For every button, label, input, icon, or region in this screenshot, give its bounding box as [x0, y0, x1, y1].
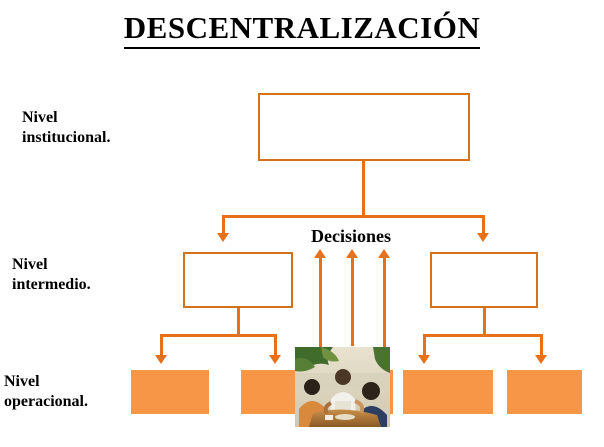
connector-top-right-drop — [482, 215, 485, 235]
arrow-down-icon-mid-right — [477, 233, 489, 242]
connector-top-bus — [222, 215, 485, 218]
connector-midright-drop-1 — [423, 334, 426, 357]
box-institutional-level[interactable] — [258, 93, 470, 161]
box-operational-1[interactable] — [131, 370, 209, 414]
page-title: DESCENTRALIZACIÓN — [0, 10, 604, 46]
box-intermediate-left[interactable] — [183, 252, 293, 308]
arrow-up-icon-decision-2 — [346, 249, 358, 258]
connector-top-left-drop — [222, 215, 225, 235]
arrow-up-icon-decision-1 — [314, 249, 326, 258]
connector-midleft-stem — [237, 308, 240, 335]
diagram-canvas: DESCENTRALIZACIÓN Nivel institucional. N… — [0, 0, 604, 447]
connector-midright-stem — [483, 308, 486, 335]
connector-midright-bus — [423, 334, 543, 337]
page-title-text: DESCENTRALIZACIÓN — [124, 10, 480, 49]
connector-midleft-bus — [160, 334, 277, 337]
connector-midleft-drop-1 — [160, 334, 163, 357]
box-operational-4[interactable] — [507, 370, 582, 414]
connector-midright-drop-2 — [540, 334, 543, 357]
box-intermediate-right[interactable] — [430, 252, 538, 308]
level-label-intermedio: Nivel intermedio. — [12, 255, 91, 295]
connector-midleft-drop-2 — [274, 334, 277, 357]
meeting-photo — [295, 347, 390, 427]
arrow-down-icon-op-3 — [418, 355, 430, 364]
arrow-down-icon-mid-left — [217, 233, 229, 242]
level-label-operacional: Nivel operacional. — [4, 372, 88, 412]
arrow-down-icon-op-2 — [269, 355, 281, 364]
arrow-up-icon-decision-3 — [378, 249, 390, 258]
level-label-institucional: Nivel institucional. — [22, 108, 110, 148]
connector-top-stem — [362, 161, 365, 216]
arrow-down-icon-op-4 — [535, 355, 547, 364]
decisions-label: Decisiones — [311, 226, 391, 247]
connector-decision-up-2 — [351, 258, 354, 346]
arrow-down-icon-op-1 — [155, 355, 167, 364]
box-operational-3[interactable] — [403, 370, 493, 414]
